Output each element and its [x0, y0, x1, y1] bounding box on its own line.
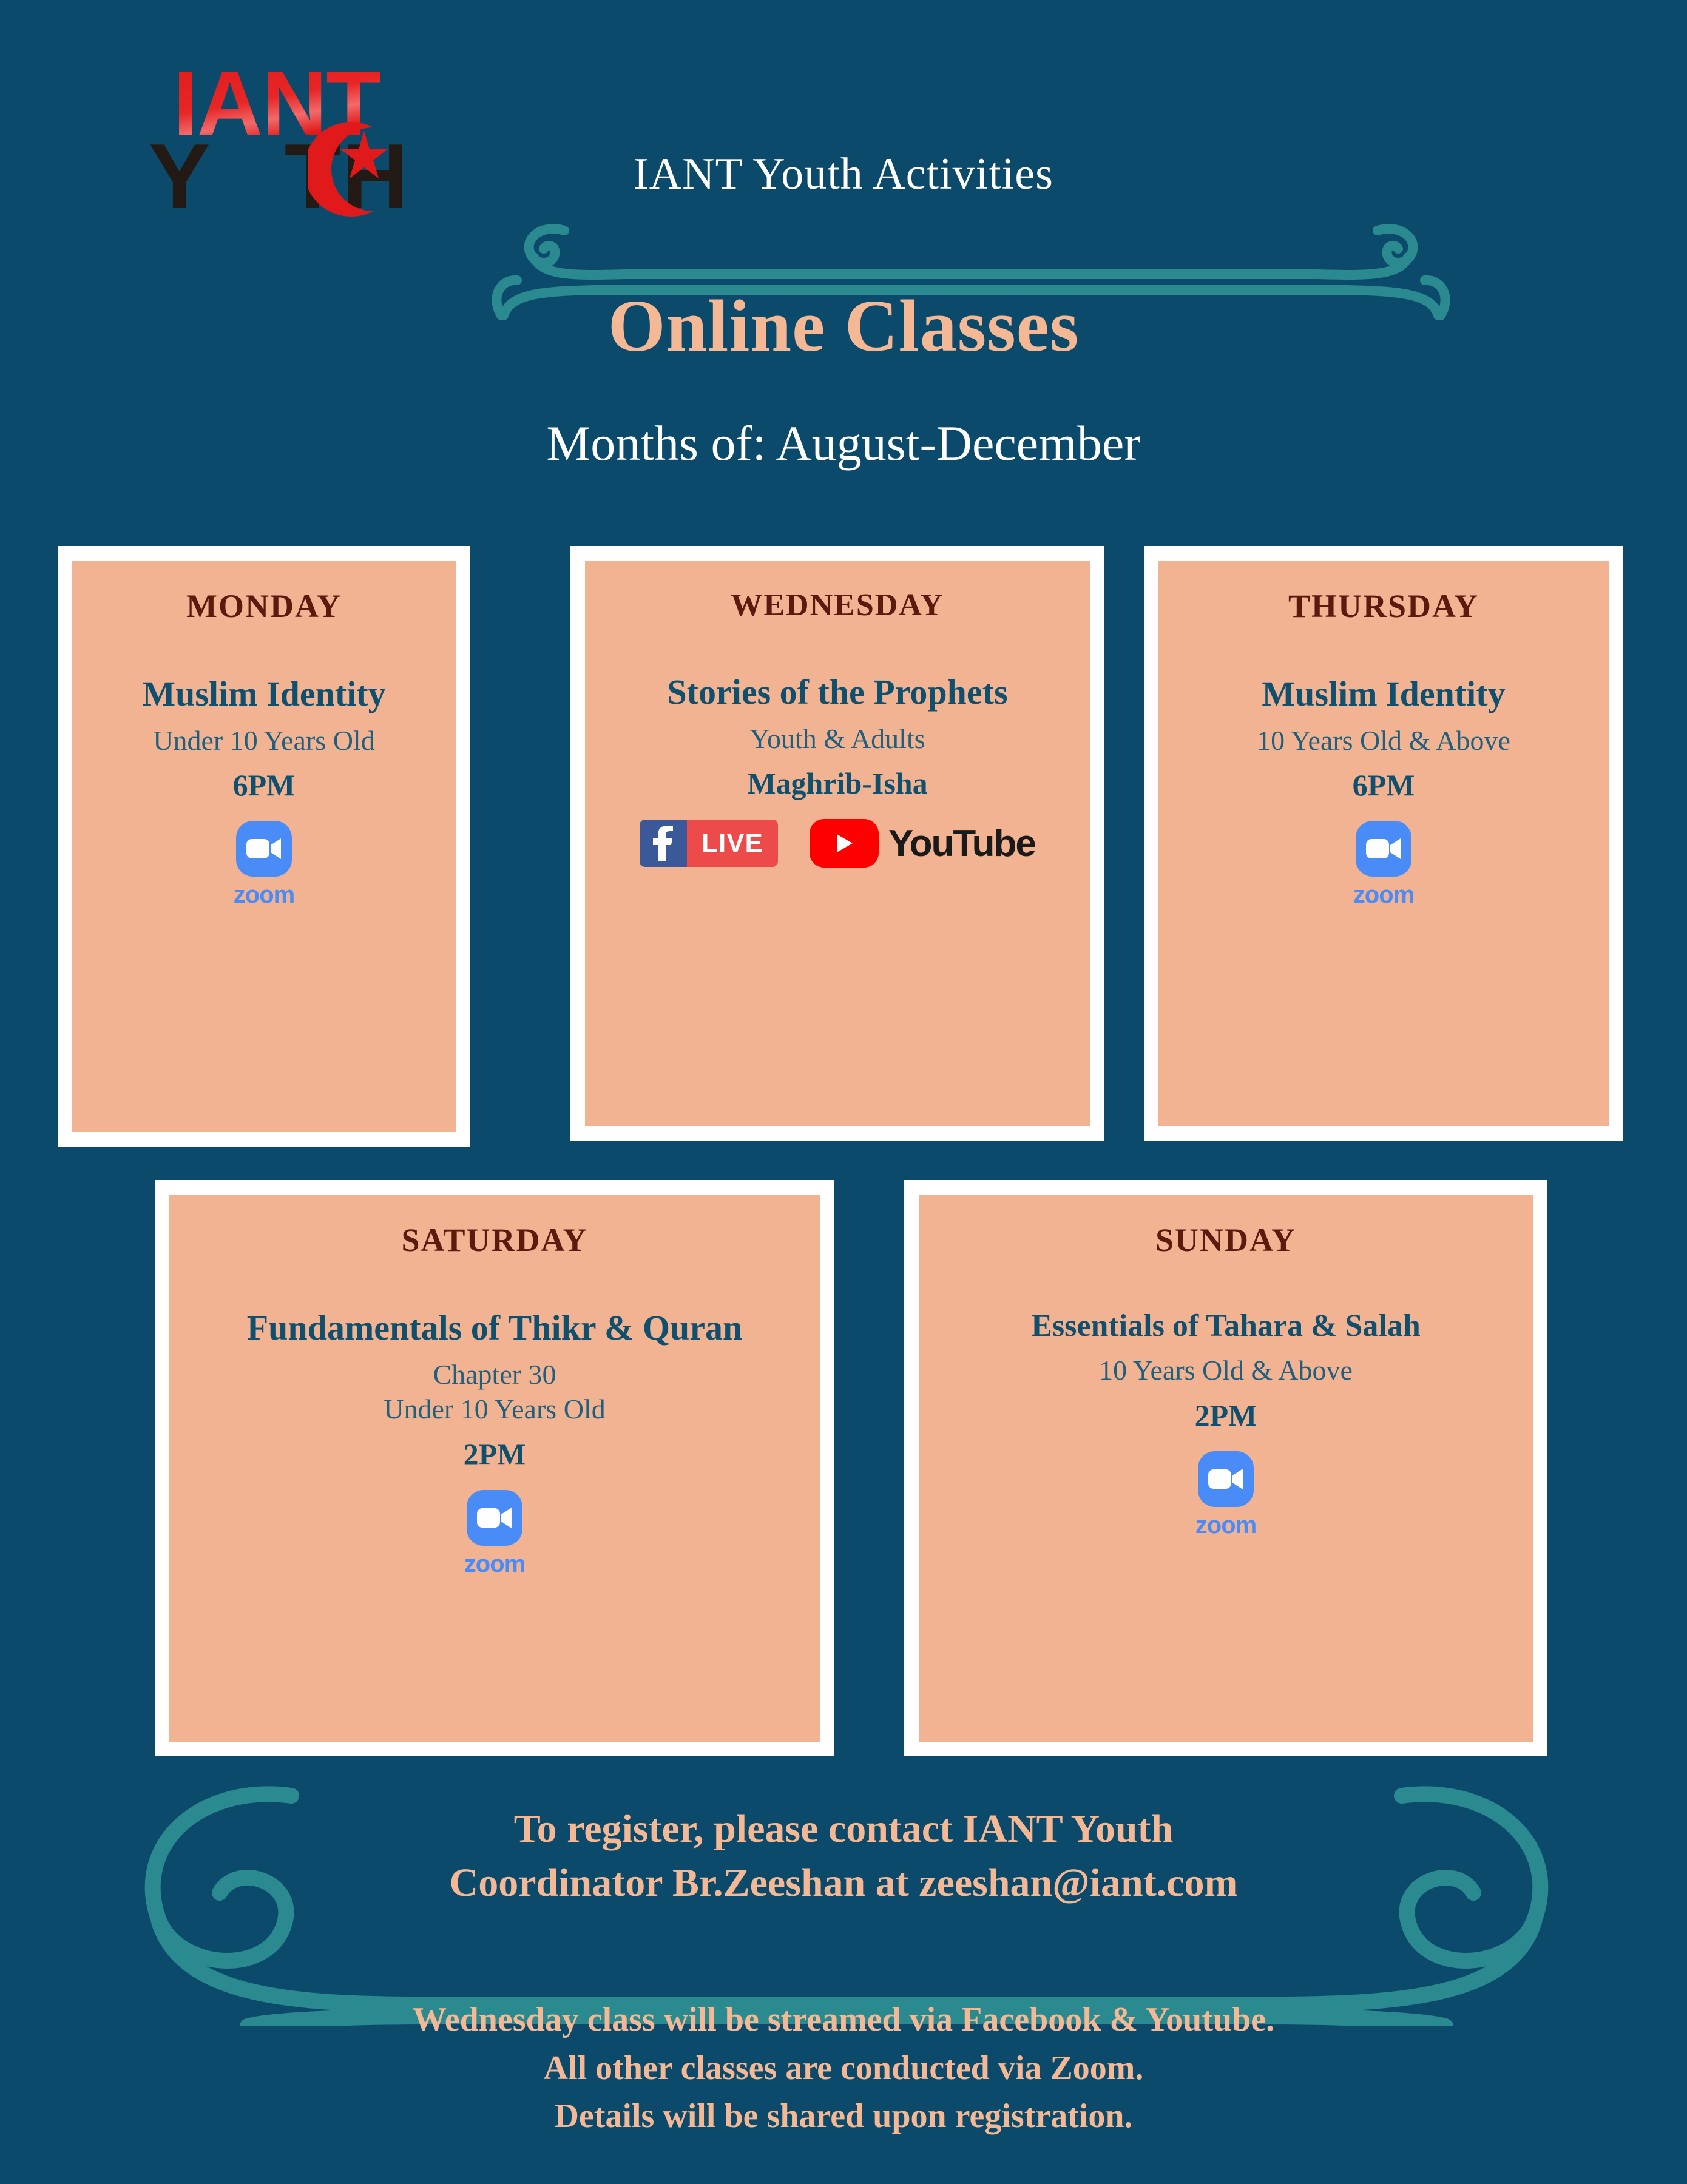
day-heading: WEDNESDAY: [731, 587, 944, 623]
audience-label: Youth & Adults: [749, 721, 925, 757]
zoom-logo: zoom: [1353, 821, 1414, 909]
footnote-line-1: Wednesday class will be streamed via Fac…: [0, 1996, 1687, 2044]
class-time: 2PM: [1195, 1398, 1257, 1433]
streaming-platforms: LIVE YouTube: [640, 819, 1035, 868]
zoom-wordmark: zoom: [1353, 881, 1414, 909]
class-time: Maghrib-Isha: [747, 766, 927, 801]
zoom-icon: [236, 821, 292, 877]
day-heading: MONDAY: [186, 587, 342, 625]
page-title: IANT Youth Activities: [0, 149, 1687, 200]
zoom-icon: [1356, 821, 1411, 877]
flyer-root: IANT YOTH IANT Youth Activities Online C…: [0, 0, 1687, 2184]
class-card-monday[interactable]: MONDAY Muslim Identity Under 10 Years Ol…: [58, 546, 470, 1147]
day-heading: SUNDAY: [1155, 1221, 1296, 1259]
zoom-wordmark: zoom: [1195, 1512, 1256, 1539]
iant-youth-logo: IANT YOTH: [149, 58, 525, 234]
play-triangle-icon: [833, 831, 855, 855]
video-camera-icon: [476, 1506, 513, 1530]
course-title: Essentials of Tahara & Salah: [1031, 1309, 1421, 1343]
footnote-block: Wednesday class will be streamed via Fac…: [0, 1996, 1687, 2141]
video-camera-icon: [1207, 1467, 1245, 1491]
zoom-logo: zoom: [234, 821, 294, 909]
audience-chapter: Chapter 30: [433, 1357, 556, 1392]
subtitle-months: Months of: August-December: [0, 415, 1687, 472]
footnote-line-3: Details will be shared upon registration…: [0, 2092, 1687, 2141]
video-camera-icon: [245, 837, 283, 861]
class-time: 2PM: [464, 1437, 526, 1472]
video-camera-icon: [1365, 837, 1402, 861]
class-card-wednesday[interactable]: WEDNESDAY Stories of the Prophets Youth …: [570, 546, 1104, 1141]
contact-line-2: Coordinator Br.Zeeshan at zeeshan@iant.c…: [0, 1856, 1687, 1910]
class-time: 6PM: [233, 767, 296, 803]
zoom-wordmark: zoom: [234, 881, 294, 909]
zoom-icon: [467, 1490, 522, 1546]
audience-label: Under 10 Years Old: [384, 1392, 605, 1427]
class-card-sunday[interactable]: SUNDAY Essentials of Tahara & Salah 10 Y…: [904, 1180, 1547, 1756]
zoom-logo: zoom: [464, 1490, 525, 1578]
contact-block: To register, please contact IANT Youth C…: [0, 1802, 1687, 1910]
day-heading: SATURDAY: [401, 1221, 587, 1259]
live-badge-label: LIVE: [687, 820, 778, 867]
course-title: Muslim Identity: [142, 675, 385, 713]
course-title: Fundamentals of Thikr & Quran: [247, 1309, 742, 1347]
contact-line-1: To register, please contact IANT Youth: [0, 1802, 1687, 1856]
zoom-icon: [1198, 1451, 1254, 1507]
audience-label: 10 Years Old & Above: [1099, 1353, 1353, 1388]
youtube-logo: YouTube: [810, 819, 1035, 868]
class-time: 6PM: [1353, 767, 1415, 803]
facebook-live-badge: LIVE: [640, 820, 778, 867]
facebook-f-glyph: [652, 826, 674, 861]
footnote-line-2: All other classes are conducted via Zoom…: [0, 2044, 1687, 2093]
class-card-saturday[interactable]: SATURDAY Fundamentals of Thikr & Quran C…: [155, 1180, 834, 1756]
youtube-wordmark: YouTube: [888, 822, 1035, 865]
audience-label: Under 10 Years Old: [153, 723, 374, 758]
course-title: Stories of the Prophets: [667, 673, 1007, 712]
facebook-icon: [640, 820, 687, 867]
main-heading: Online Classes: [0, 284, 1687, 369]
day-heading: THURSDAY: [1288, 587, 1479, 625]
youtube-icon: [810, 819, 879, 868]
zoom-logo: zoom: [1195, 1451, 1256, 1539]
class-card-thursday[interactable]: THURSDAY Muslim Identity 10 Years Old & …: [1144, 546, 1623, 1141]
audience-label: 10 Years Old & Above: [1257, 723, 1510, 758]
course-title: Muslim Identity: [1262, 675, 1505, 713]
zoom-wordmark: zoom: [464, 1551, 525, 1578]
